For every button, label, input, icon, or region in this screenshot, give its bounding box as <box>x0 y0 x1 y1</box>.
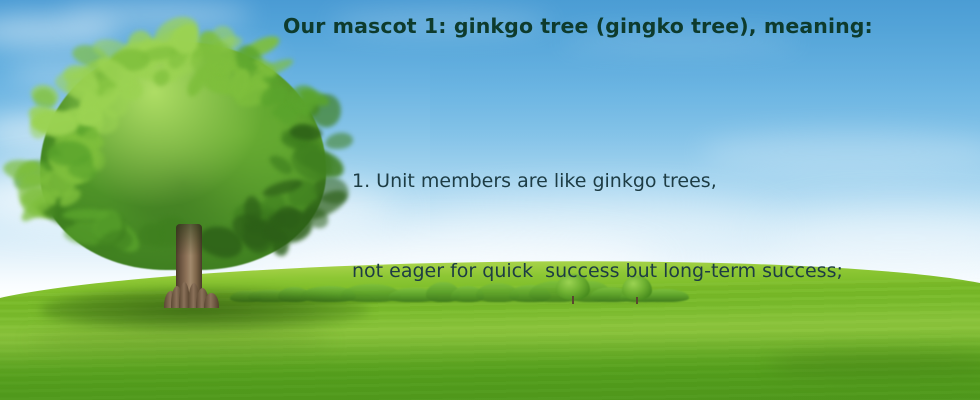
mascot-meaning-list: 1. Unit members are like ginkgo trees, n… <box>352 46 952 400</box>
meaning-1-line-2: not eager for quick success but long-ter… <box>352 256 952 286</box>
page-title: Our mascot 1: ginkgo tree (gingko tree),… <box>283 13 923 39</box>
list-item: 1. Unit members are like ginkgo trees, n… <box>352 106 952 346</box>
tree-root <box>204 293 219 308</box>
foliage-clump <box>62 208 109 220</box>
meaning-1-line-1: 1. Unit members are like ginkgo trees, <box>352 166 952 196</box>
mascot-banner: Our mascot 1: ginkgo tree (gingko tree),… <box>0 0 980 400</box>
mascot-tree <box>32 38 332 313</box>
